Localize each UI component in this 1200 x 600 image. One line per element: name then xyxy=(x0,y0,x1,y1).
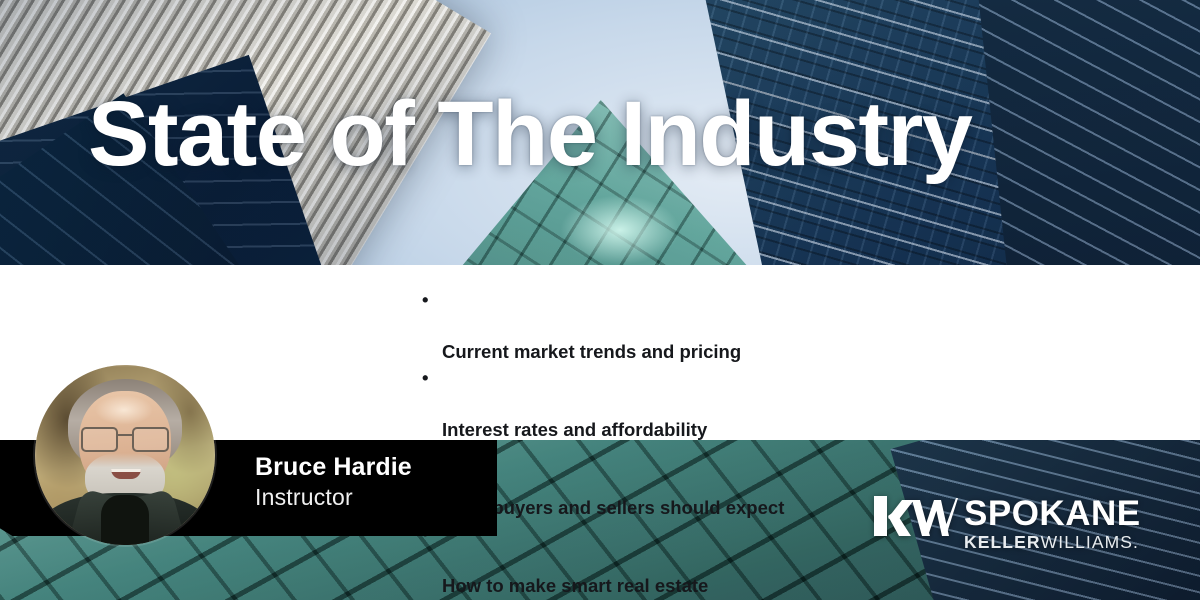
presenter-name: Bruce Hardie xyxy=(255,452,412,482)
brand-company-light: WILLIAMS xyxy=(1041,532,1133,552)
hero-section: State of The Industry xyxy=(0,0,1200,265)
brand-company-name: KELLERWILLIAMS. xyxy=(964,533,1141,552)
glasses-right-lens xyxy=(132,427,169,452)
bullet-icon: • xyxy=(422,287,428,313)
avatar-turtleneck xyxy=(101,495,149,545)
presenter-text-group: Bruce Hardie Instructor xyxy=(255,452,412,512)
page-title: State of The Industry xyxy=(88,88,971,180)
brand-wordmark: SPOKANE KELLERWILLIAMS. xyxy=(964,496,1141,552)
list-item: • Current market trends and pricing xyxy=(420,287,784,365)
list-item-label: Interest rates and affordability xyxy=(442,419,707,440)
brand-market-name: SPOKANE xyxy=(964,496,1141,532)
avatar-forehead-highlight xyxy=(95,395,153,425)
brand-company-period: . xyxy=(1133,532,1139,552)
event-banner: State of The Industry • Current market t… xyxy=(0,0,1200,600)
list-item: • Interest rates and affordability xyxy=(420,365,784,443)
list-item-label: Current market trends and pricing xyxy=(442,341,741,362)
presenter-role: Instructor xyxy=(255,482,412,512)
glasses-icon xyxy=(79,427,171,449)
glasses-left-lens xyxy=(81,427,118,452)
bullet-icon: • xyxy=(422,365,428,391)
list-item-label: How to make smart real estate decisions … xyxy=(442,575,708,600)
brand-company-bold: KELLER xyxy=(964,532,1041,552)
avatar xyxy=(35,365,215,545)
keller-williams-spokane-logo: SPOKANE KELLERWILLIAMS. xyxy=(872,496,1141,552)
kw-monogram-icon xyxy=(872,496,958,536)
